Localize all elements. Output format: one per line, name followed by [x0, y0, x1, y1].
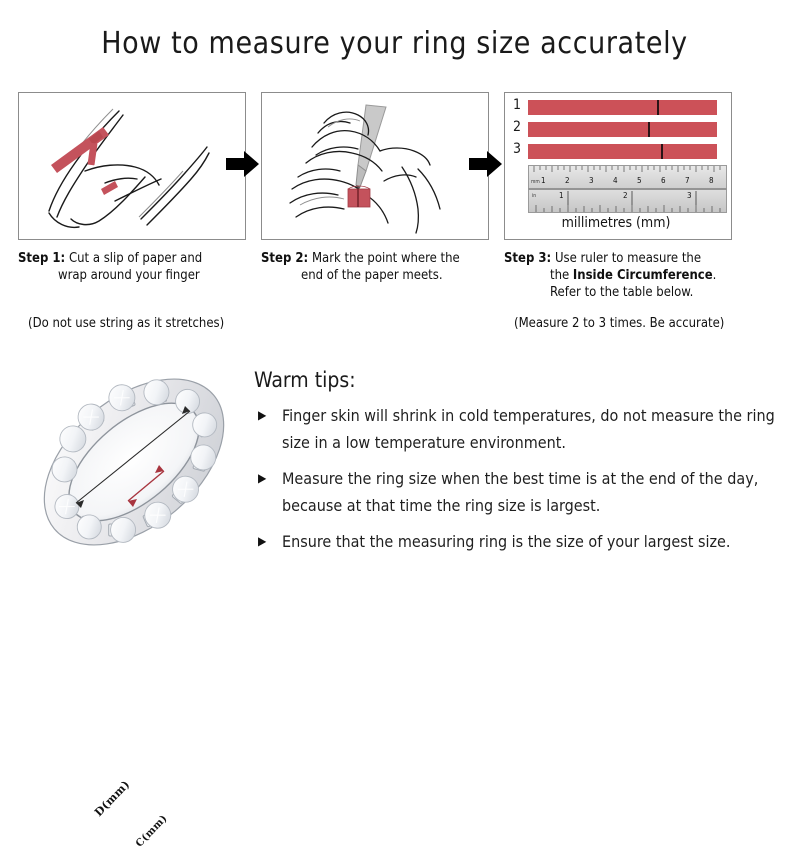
- warm-tip-text: Finger skin will shrink in cold temperat…: [282, 406, 775, 452]
- step-3-text-line2: the Inside Circumference.: [504, 267, 766, 284]
- warm-tip-text: Ensure that the measuring ring is the si…: [282, 532, 730, 551]
- warm-tips-heading: Warm tips:: [254, 368, 356, 392]
- ruler-cm-tick-label: 2: [565, 177, 570, 185]
- measured-strip-row: 1: [511, 100, 727, 115]
- ring-size-infographic: How to measure your ring size accurately: [0, 0, 789, 606]
- ruler-cm-tick-label: 6: [661, 177, 666, 185]
- ruler-cm-tick-label: 8: [709, 177, 714, 185]
- step-1-caption: Step 1: Cut a slip of paper and wrap aro…: [18, 250, 254, 284]
- ring-circumference-label: C(mm): [134, 813, 170, 849]
- bullet-triangle-icon: ▶: [258, 528, 266, 555]
- bullet-triangle-icon: ▶: [258, 465, 266, 492]
- strip-number: 3: [513, 142, 527, 157]
- hand-with-paper-strip-drawing: [19, 93, 245, 239]
- step-2-illustration-panel: [261, 92, 489, 240]
- ruler-cm-tick-label: 3: [589, 177, 594, 185]
- ruler-cm-tick-label: 1: [541, 177, 546, 185]
- step-3-line2-suffix: .: [713, 268, 717, 283]
- step-1-text-line2: wrap around your finger: [18, 267, 254, 284]
- ring-diagram: D(mm) C(mm): [18, 355, 250, 570]
- step-3-measurement-panel: 1 2 3: [504, 92, 732, 240]
- ruler-unit-caption: millimetres (mm): [505, 215, 727, 231]
- bullet-triangle-icon: ▶: [258, 402, 266, 429]
- step-1-text-line1: Cut a slip of paper and: [69, 251, 202, 266]
- arrow-step2-to-step3: [469, 148, 503, 180]
- warm-tips-list: ▶ Finger skin will shrink in cold temper…: [256, 402, 776, 564]
- step-1-note: (Do not use string as it stretches): [28, 315, 278, 332]
- steps-panel-row: 1 2 3: [0, 92, 789, 242]
- ruler-inch-tick-label: 3: [687, 192, 692, 200]
- ring-diameter-label: D(mm): [92, 778, 132, 819]
- strip-mark-tick: [648, 122, 650, 137]
- step-3-note: (Measure 2 to 3 times. Be accurate): [514, 315, 776, 332]
- ruler-inch-tick-label: 1: [559, 192, 564, 200]
- ruler-graphic: mm 1 2 3 4 5 6 7 8 in 1 2 3: [528, 165, 727, 213]
- measured-strip-row: 2: [511, 122, 727, 137]
- step-3-caption: Step 3: Use ruler to measure the the Ins…: [504, 250, 766, 301]
- step-2-text-line2: end of the paper meets.: [261, 267, 497, 284]
- strip-number: 1: [513, 98, 527, 113]
- strip-number: 2: [513, 120, 527, 135]
- step-2-text-line1: Mark the point where the: [312, 251, 460, 266]
- ruler-cm-tick-label: 4: [613, 177, 618, 185]
- step-2-label: Step 2:: [261, 251, 308, 266]
- step-3-label: Step 3:: [504, 251, 551, 266]
- page-title: How to measure your ring size accurately: [0, 26, 789, 61]
- warm-tip-text: Measure the ring size when the best time…: [282, 469, 758, 515]
- step-3-text-line1: Use ruler to measure the: [555, 251, 701, 266]
- step-1-illustration-panel: [18, 92, 246, 240]
- step-2-caption: Step 2: Mark the point where the end of …: [261, 250, 497, 284]
- step-1-label: Step 1:: [18, 251, 65, 266]
- strip-bar: [528, 100, 717, 115]
- warm-tip-item: ▶ Ensure that the measuring ring is the …: [256, 528, 776, 555]
- strip-bar: [528, 122, 717, 137]
- ruler-cm-tick-label: 7: [685, 177, 690, 185]
- warm-tip-item: ▶ Measure the ring size when the best ti…: [256, 465, 776, 519]
- ruler-cm-unit-label: mm: [531, 179, 540, 185]
- strip-mark-tick: [661, 144, 663, 159]
- inside-circumference-emphasis: Inside Circumference: [573, 268, 713, 283]
- step-3-line2-prefix: the: [550, 268, 573, 283]
- step-3-text-line3: Refer to the table below.: [504, 284, 766, 301]
- ruler-tick-marks: [528, 165, 727, 213]
- strip-bar: [528, 144, 717, 159]
- measured-strips-group: 1 2 3: [511, 100, 727, 162]
- arrow-step1-to-step2: [226, 148, 260, 180]
- ruler-inch-tick-label: 2: [623, 192, 628, 200]
- ruler-inch-unit-label: in: [532, 193, 536, 199]
- strip-mark-tick: [657, 100, 659, 115]
- warm-tip-item: ▶ Finger skin will shrink in cold temper…: [256, 402, 776, 456]
- eternity-ring-illustration: [18, 355, 250, 570]
- measured-strip-row: 3: [511, 144, 727, 159]
- ruler-cm-tick-label: 5: [637, 177, 642, 185]
- hand-marking-paper-drawing: [262, 93, 488, 239]
